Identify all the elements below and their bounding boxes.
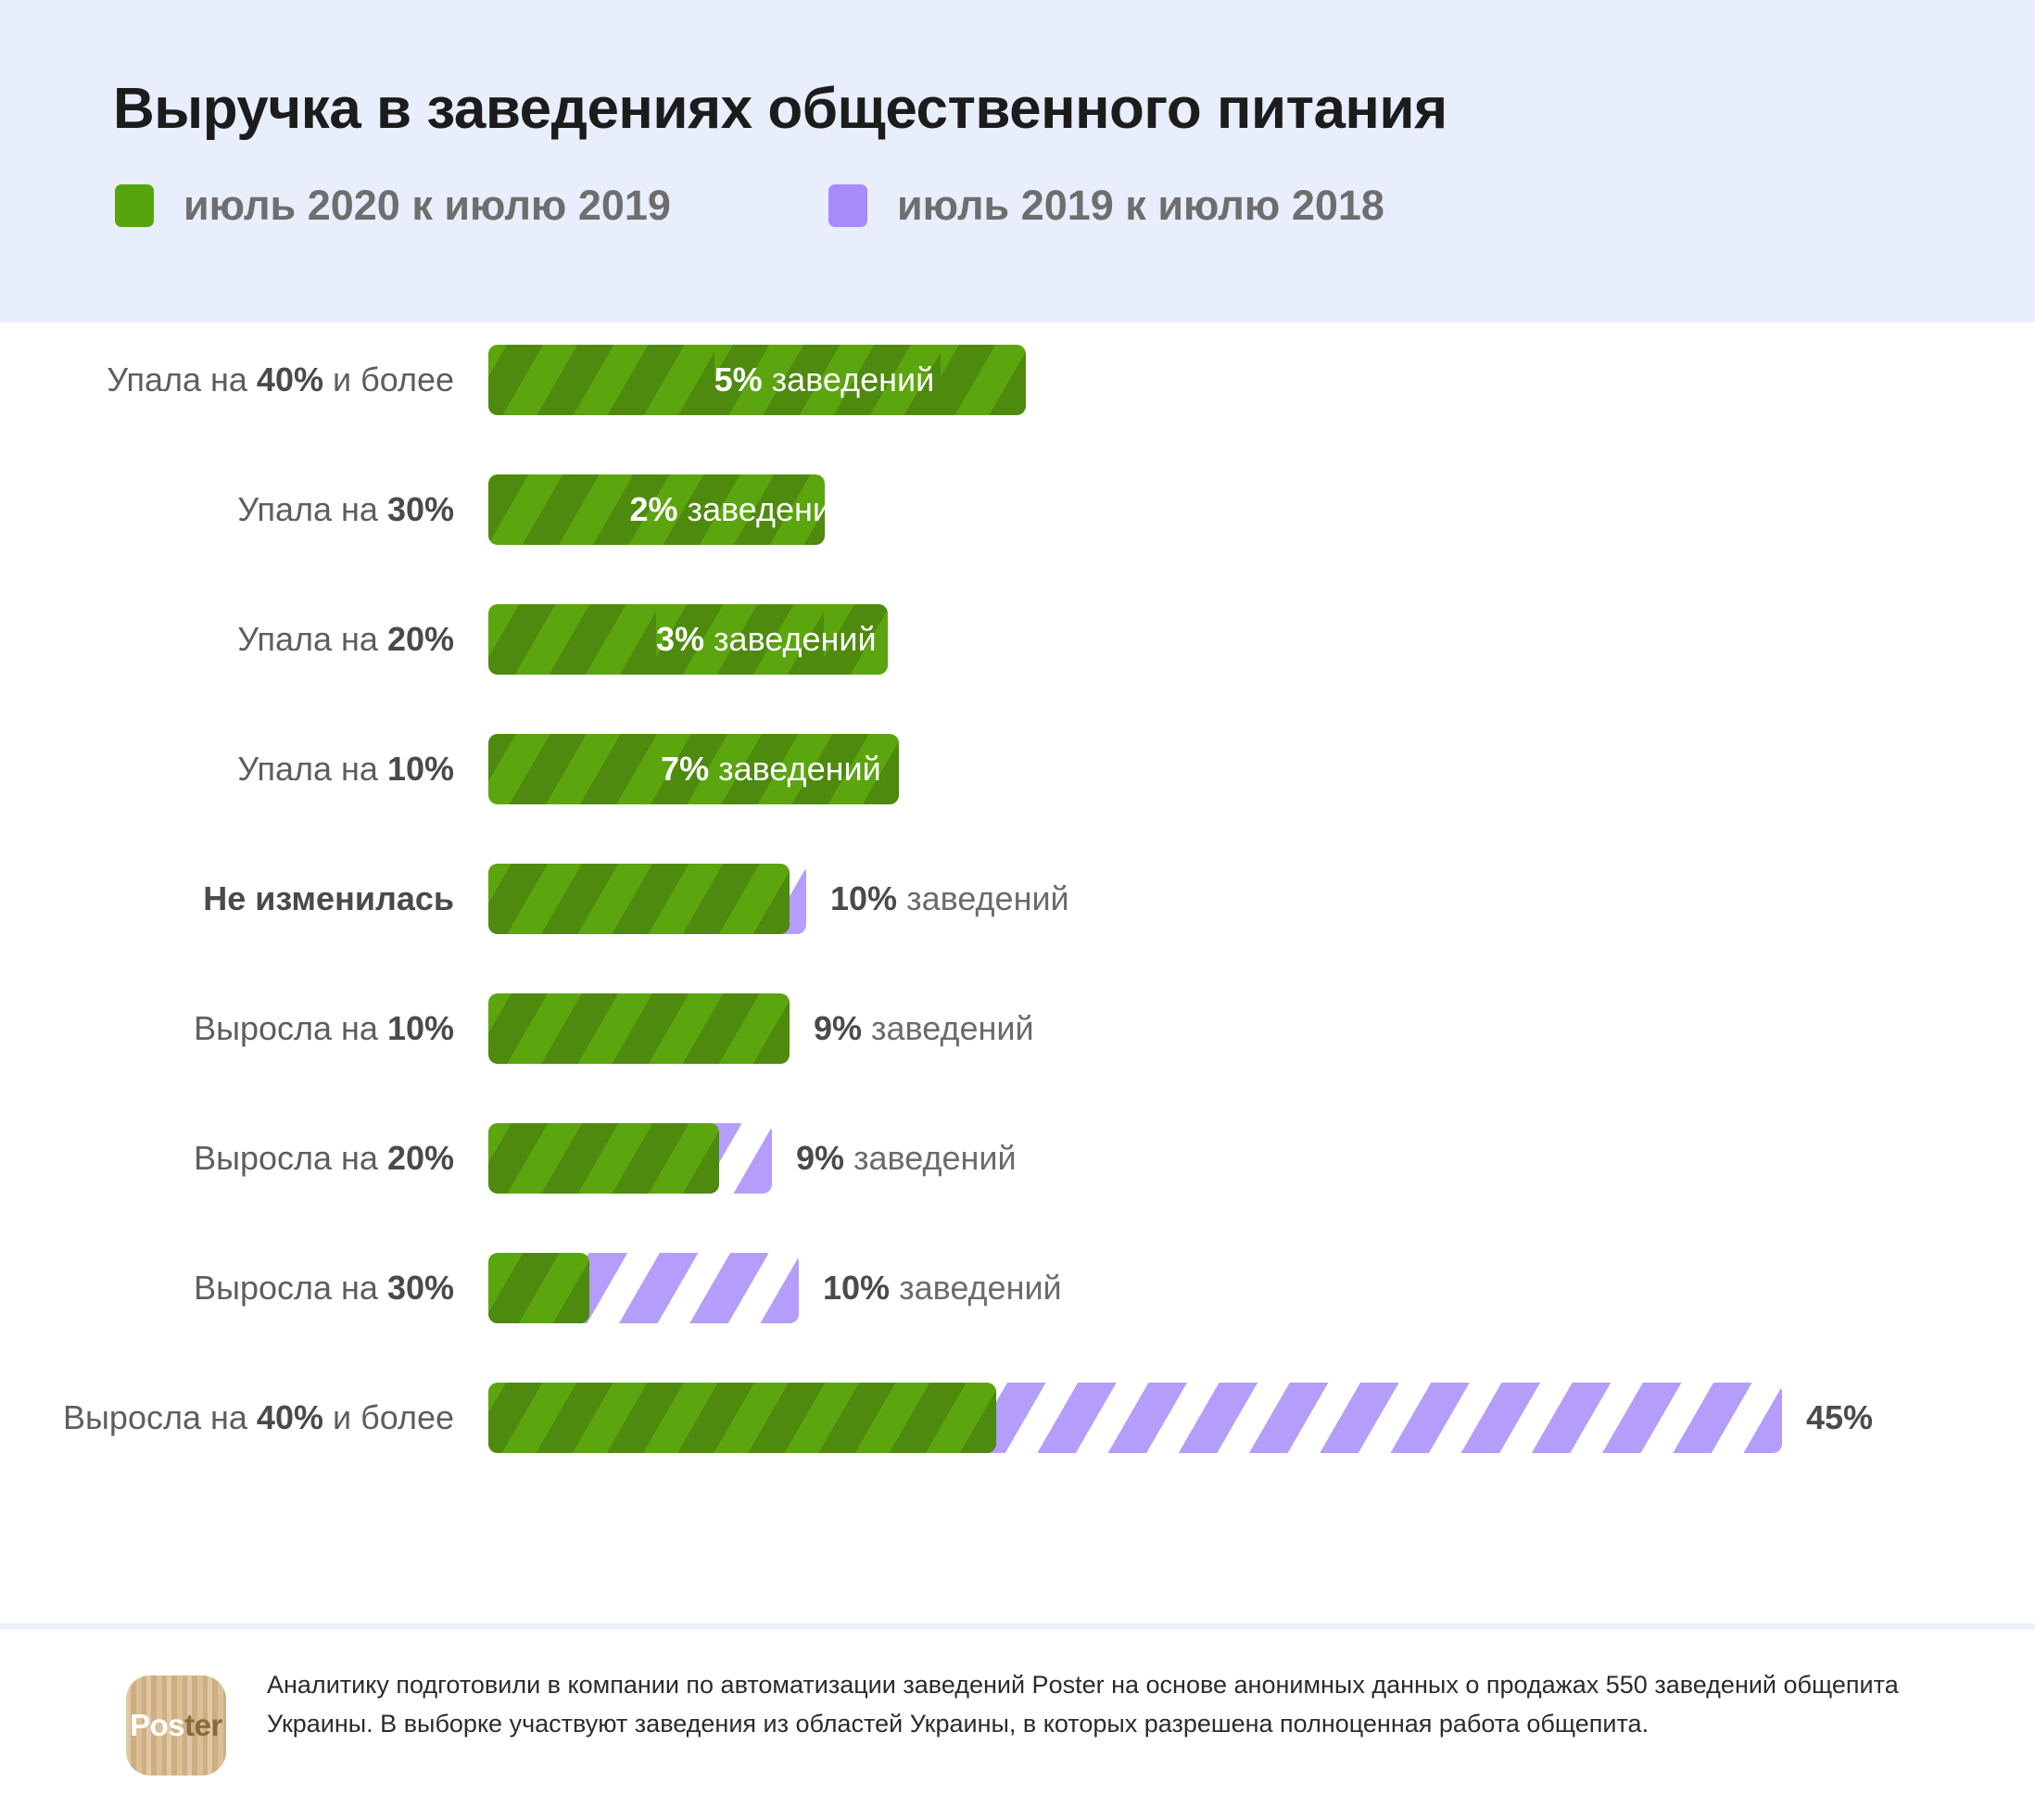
bar-value-label: 9% заведений xyxy=(796,1123,1017,1194)
bar-track xyxy=(488,1123,772,1194)
legend: июль 2020 к июлю 2019 июль 2019 к июлю 2… xyxy=(115,182,1384,230)
bar-value-label: 10% заведений xyxy=(830,864,1069,934)
legend-label-purple: июль 2019 к июлю 2018 xyxy=(897,182,1384,230)
bar-row-label: Упала на 40% и более xyxy=(107,345,454,415)
bar-row-label: Выросла на 30% xyxy=(194,1253,454,1323)
bar-row-label: Выросла на 40% и более xyxy=(63,1383,454,1453)
bar-value-label: 5% заведений xyxy=(714,345,935,415)
page-title: Выручка в заведениях общественного питан… xyxy=(113,76,1447,142)
poster-logo-icon: Poster xyxy=(126,1675,226,1776)
legend-swatch-purple-icon xyxy=(828,184,867,227)
bar-row: Упала на 30%2% заведений xyxy=(0,474,2035,545)
bar-row-label: Упала на 20% xyxy=(237,604,454,675)
bar-value-label: 9% заведений xyxy=(814,993,1034,1064)
poster-logo-text-dark: ter xyxy=(184,1708,222,1742)
bar-segment-green xyxy=(488,993,790,1064)
bar-value-label: 45% xyxy=(1806,1383,1873,1453)
poster-logo-text-light: Pos xyxy=(130,1708,184,1742)
poster-logo-text: Poster xyxy=(130,1708,222,1743)
legend-swatch-green-icon xyxy=(115,184,154,227)
bar-row-label: Выросла на 10% xyxy=(194,993,454,1064)
bar-row: Упала на 20%3% заведений xyxy=(0,604,2035,675)
bar-track xyxy=(488,864,806,934)
bar-segment-green xyxy=(488,1123,719,1194)
bar-value-label: 2% заведений xyxy=(629,474,850,545)
bar-value-label: 7% заведений xyxy=(661,734,881,804)
bar-row-label: Выросла на 20% xyxy=(194,1123,454,1194)
legend-item-green: июль 2020 к июлю 2019 xyxy=(115,182,671,230)
bar-track xyxy=(488,993,790,1064)
bar-row-label: Не изменилась xyxy=(203,864,454,934)
bar-segment-green xyxy=(488,864,790,934)
bar-segment-green xyxy=(488,1383,996,1453)
bar-row: Не изменилась10% заведений xyxy=(0,864,2035,934)
bar-row-label: Упала на 10% xyxy=(237,734,454,804)
bar-row-label: Упала на 30% xyxy=(237,474,454,545)
bar-row: Выросла на 30%10% заведений xyxy=(0,1253,2035,1323)
bar-track xyxy=(488,1253,799,1323)
bar-row: Упала на 40% и более5% заведений xyxy=(0,345,2035,415)
footer: Poster Аналитику подготовили в компании … xyxy=(0,1629,2035,1820)
bar-row: Выросла на 40% и более45% xyxy=(0,1383,2035,1453)
bar-row: Выросла на 10%9% заведений xyxy=(0,993,2035,1064)
bar-value-label: 10% заведений xyxy=(823,1253,1062,1323)
bar-row: Выросла на 20%9% заведений xyxy=(0,1123,2035,1194)
header-band xyxy=(0,0,2035,322)
legend-item-purple: июль 2019 к июлю 2018 xyxy=(828,182,1384,230)
chart-area: Упала на 40% и более5% заведенийУпала на… xyxy=(0,322,2035,1624)
bar-track xyxy=(488,1383,1782,1453)
bar-row: Упала на 10%7% заведений xyxy=(0,734,2035,804)
bar-segment-green xyxy=(488,1253,589,1323)
bar-value-label: 3% заведений xyxy=(656,604,877,675)
footer-description: Аналитику подготовили в компании по авто… xyxy=(267,1666,1935,1744)
legend-label-green: июль 2020 к июлю 2019 xyxy=(183,182,671,230)
